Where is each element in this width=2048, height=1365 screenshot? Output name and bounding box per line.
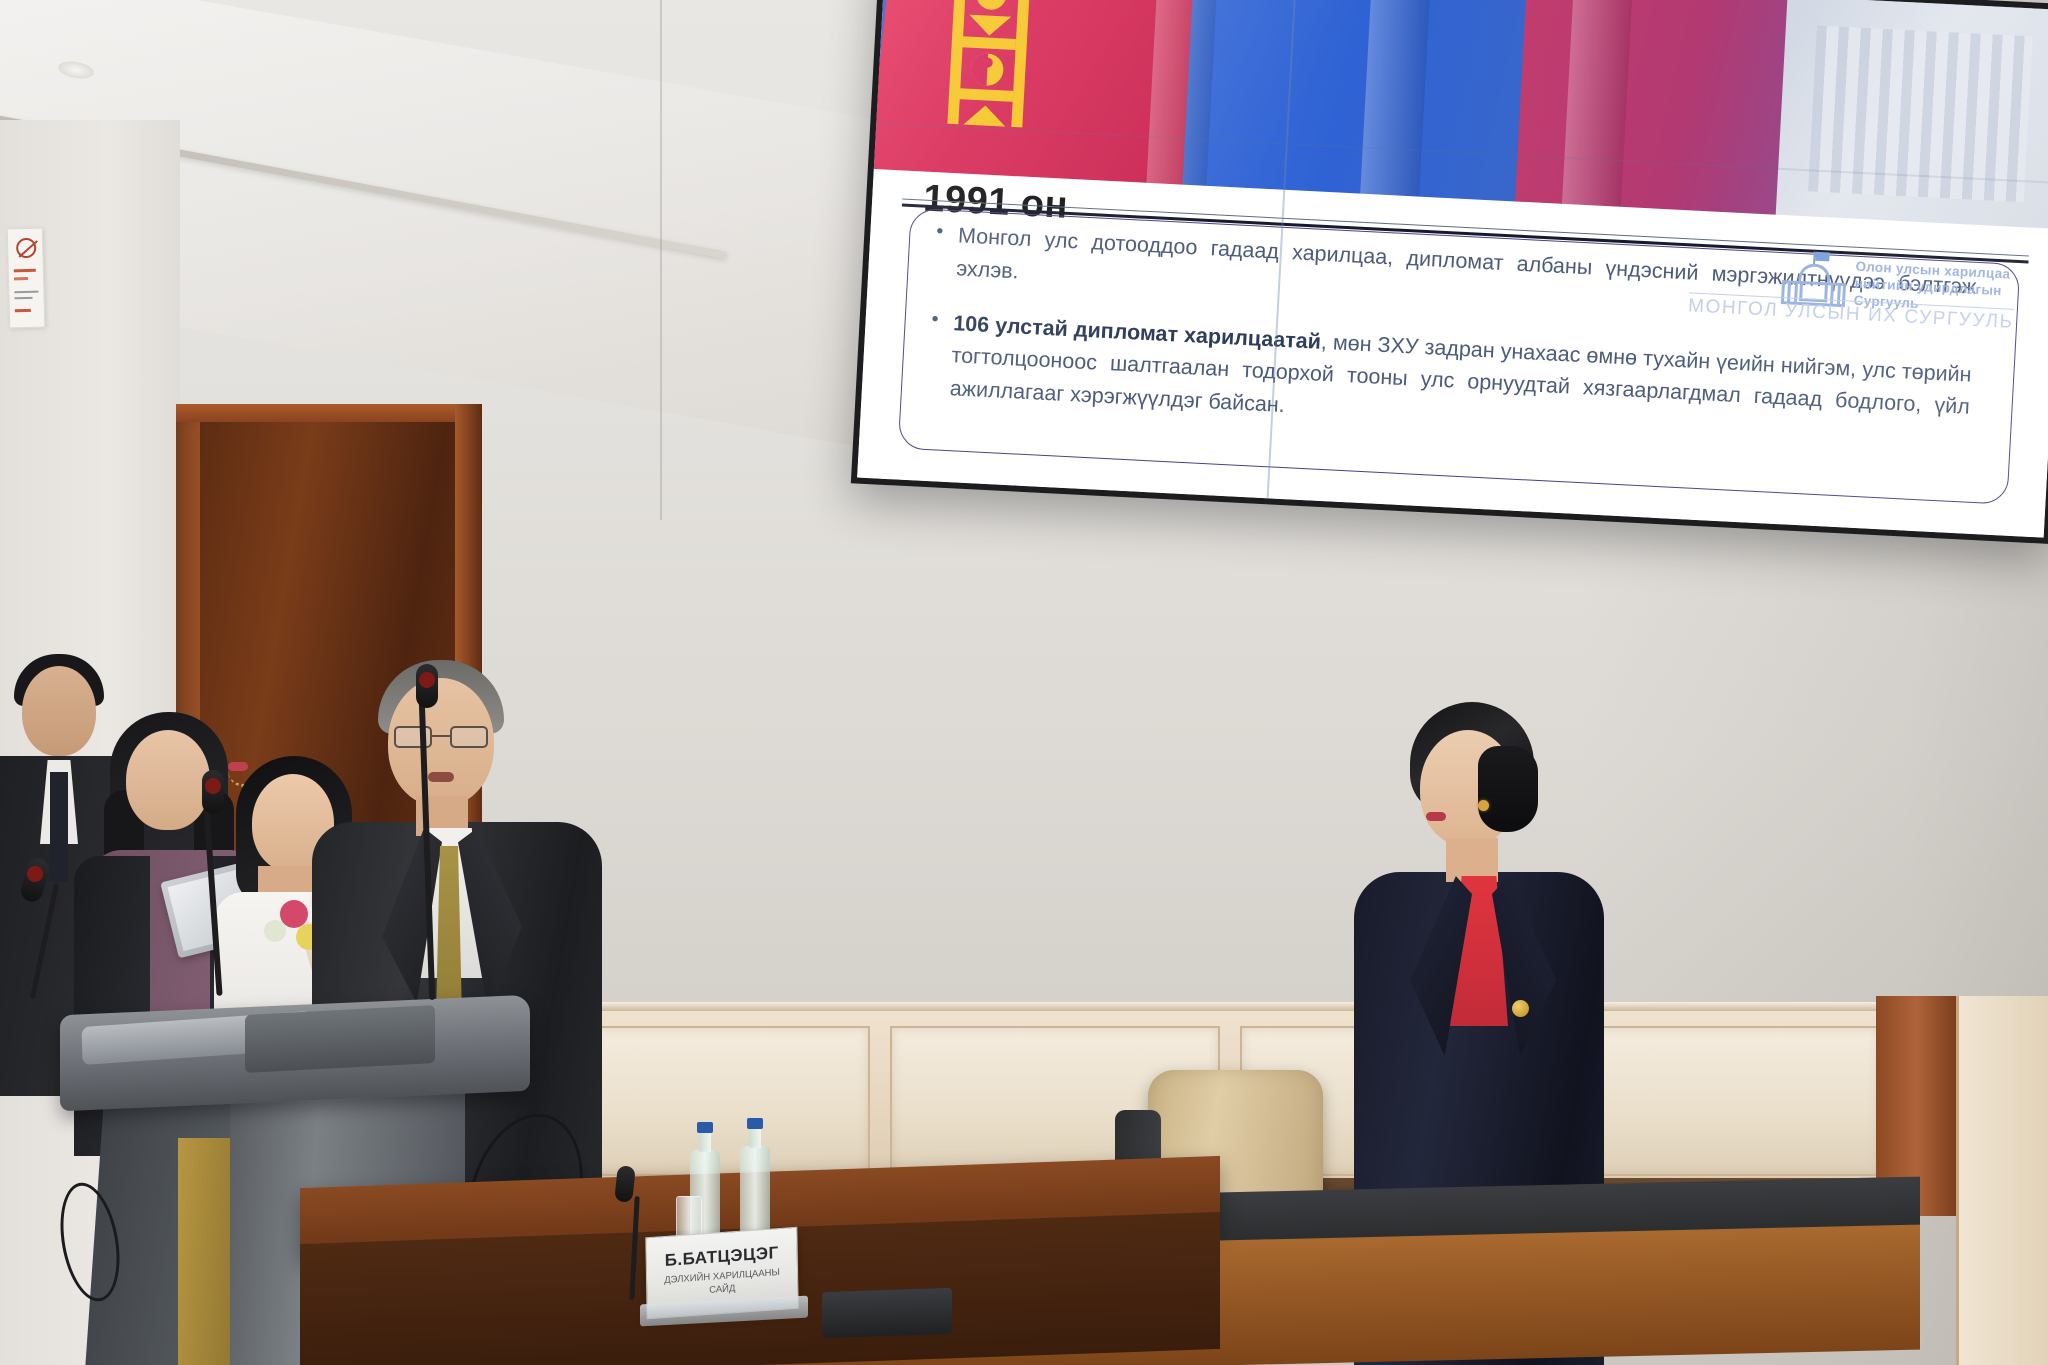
screenshot-root: 1991 он Монгол улс дотооддоо гадаад хари… [0,0,2048,1365]
microphone-grille-icon [419,672,435,688]
sign-line [15,309,31,312]
eyeglasses-icon [394,726,488,748]
head [126,730,210,830]
background-building [1774,0,2048,232]
head [22,666,96,756]
lips [1426,812,1446,821]
lapel-pin-icon [1512,1000,1529,1017]
bottle-cap [697,1122,713,1133]
sign-line [14,269,36,273]
presentation-screen: 1991 он Монгол улс дотооддоо гадаад хари… [851,0,2048,544]
right-wall-panel [1956,996,2048,1365]
slide-body: 1991 он Монгол улс дотооддоо гадаад хари… [857,169,2048,538]
podium-shelf [245,1005,435,1073]
flower [264,920,286,942]
sign-line [14,291,38,294]
bottle-cap [747,1118,763,1129]
wainscot-cap [470,1002,2048,1011]
wall-seam [660,0,662,520]
neck [1446,838,1498,882]
wainscot-panel [1590,1026,1880,1176]
door-trim [176,404,482,422]
no-smoking-icon [16,238,37,259]
slide-surface: 1991 он Монгол улс дотооддоо гадаад хари… [857,0,2048,538]
conference-microphone-unit[interactable] [822,1288,952,1339]
sign-line [14,277,28,280]
soyombo-emblem-icon [943,0,1034,173]
sign-line [15,297,33,299]
lips [228,762,248,771]
no-smoking-sign [7,228,46,329]
microphone-grille-icon [205,778,221,794]
necktie [50,772,68,882]
mouth [428,772,454,782]
hair-back [1478,746,1538,832]
earring-icon [1478,800,1489,811]
slide-bullet-2-rest: , мөн ЗХУ задран унахаас өмнө тухайн үеи… [949,330,1972,420]
